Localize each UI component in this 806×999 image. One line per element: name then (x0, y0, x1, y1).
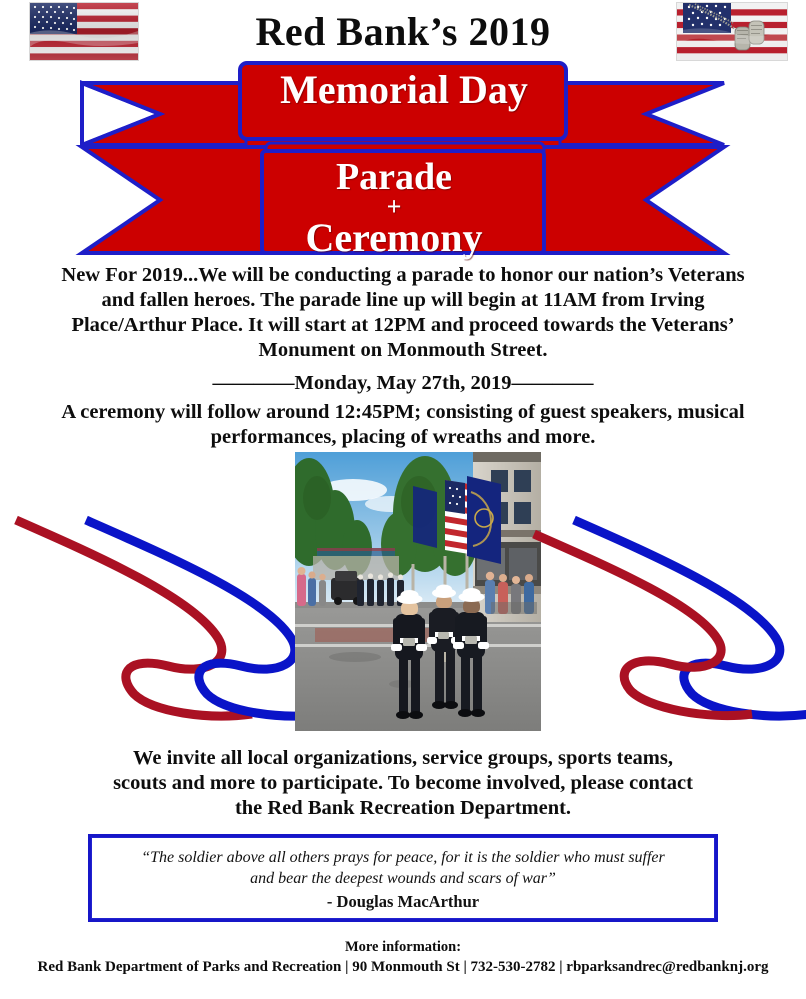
streamer-left-svg (8, 498, 300, 734)
banner-title-parade-ceremony: Parade + Ceremony (268, 158, 520, 258)
ceremony-paragraph: A ceremony will follow around 12:45PM; c… (50, 400, 756, 450)
decorative-streamer-right (528, 498, 806, 734)
banner-word-ceremony: Ceremony (268, 218, 520, 258)
parade-photo (295, 452, 541, 731)
quote-inner-border: “The soldier above all others prays for … (91, 837, 715, 919)
page-title: Red Bank’s 2019 (0, 8, 806, 55)
footer: More information: Red Bank Department of… (0, 938, 806, 977)
event-date-line: ————Monday, May 27th, 2019———— (50, 372, 756, 395)
footer-more-info-label: More information: (0, 938, 806, 957)
decorative-streamer-left (8, 498, 300, 734)
quote-line-2: and bear the deepest wounds and scars of… (106, 868, 700, 889)
banner-title-memorial-day: Memorial Day (248, 70, 560, 110)
invitation-paragraph: We invite all local organizations, servi… (105, 746, 701, 821)
quote-box: “The soldier above all others prays for … (88, 834, 718, 922)
banner-plus-sign: + (268, 197, 520, 217)
quote-line-1: “The soldier above all others prays for … (106, 847, 700, 868)
quote-attribution: - Douglas MacArthur (106, 891, 700, 913)
intro-paragraph: New For 2019...We will be conducting a p… (50, 263, 756, 363)
footer-contact-line: Red Bank Department of Parks and Recreat… (0, 957, 806, 977)
parade-photo-graphic (295, 452, 541, 731)
streamer-right-svg (528, 498, 806, 734)
